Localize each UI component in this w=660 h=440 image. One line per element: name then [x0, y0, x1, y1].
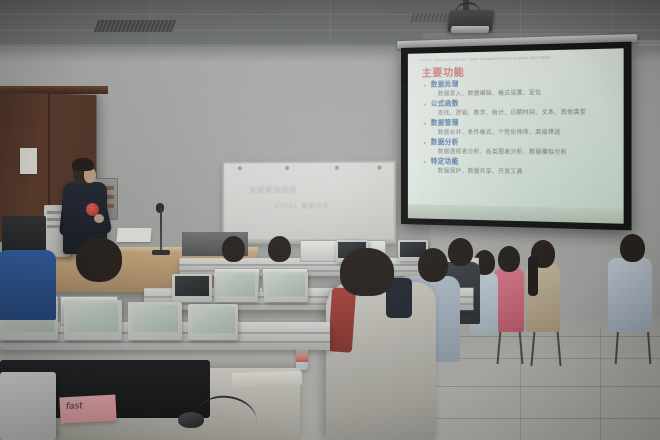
slide-section: 数据处理 数据录入、数据编辑、格式设置、定位	[424, 77, 623, 99]
wall-seated-person-2-body	[494, 268, 524, 332]
whiteboard-text-line-2: EXCEL 数据分析	[275, 201, 329, 210]
slide-section-detail: 查找、逻辑、数学、统计、日期时间、文本、其他类型	[424, 108, 623, 119]
whiteboard: 欢迎参加培训 EXCEL 数据分析	[222, 160, 396, 243]
student-front-left-head	[76, 238, 122, 282]
student-row3-right-head	[448, 238, 473, 266]
slide-section: 数据管理 数据合并、条件格式、个性化排序、高级筛选	[424, 118, 623, 138]
bottle-label	[296, 348, 308, 362]
projector-lens-icon	[451, 26, 490, 33]
slide-surface: OFFICE Application Series | Data Managem…	[408, 48, 624, 208]
projection-screen: OFFICE Application Series | Data Managem…	[401, 42, 632, 231]
slide-section-detail: 数据合并、条件格式、个性化排序、高级筛选	[424, 128, 623, 138]
presenter-shirt-logo	[86, 203, 99, 216]
slide-page-number: 7	[615, 201, 617, 205]
wall-seated-person-3-hair	[528, 256, 538, 296]
wall-seated-person-2-head	[498, 246, 520, 272]
microphone-base	[152, 250, 170, 255]
student-center-back-head	[418, 248, 448, 282]
slide-section: 公式函数 查找、逻辑、数学、统计、日期时间、文本、其他类型	[424, 97, 623, 118]
monitor-front-4	[188, 304, 238, 340]
student-center-blazer-head	[340, 248, 394, 296]
air-vent-icon	[94, 20, 177, 32]
microphone-stand	[160, 208, 162, 254]
monitor-front-2	[64, 300, 122, 340]
pink-label-sticker: fast	[59, 395, 116, 424]
monitor-mid-2	[264, 272, 308, 302]
student-front-left-body	[0, 250, 56, 320]
sticker-text: fast	[66, 401, 83, 412]
red-lanyard	[328, 287, 356, 353]
presenter-hand	[94, 214, 104, 223]
monitor-mid-3	[172, 274, 212, 302]
slide-title: 主要功能	[422, 64, 465, 80]
foreground-computer-tower	[0, 372, 56, 440]
foreground-paper	[232, 371, 302, 387]
monitor-mid-1	[214, 272, 258, 302]
slide-section-heading: 数据管理	[424, 118, 623, 129]
slide-section: 数据分析 数据透视表分析、各类图表分析、数据模拟分析	[424, 138, 623, 158]
presenter-hair	[72, 158, 94, 171]
classroom-photo: OFFICE Application Series | Data Managem…	[0, 0, 660, 440]
podium-paper-sheet	[116, 228, 151, 242]
slide-header: OFFICE Application Series | Data Managem…	[420, 55, 551, 62]
slide-bullet-list: 数据处理 数据录入、数据编辑、格式设置、定位 公式函数 查找、逻辑、数学、统计、…	[424, 77, 623, 179]
air-vent-secondary-icon	[411, 13, 454, 22]
slide-section: 特定功能 数据保护、数据共享、开发工具	[424, 157, 623, 178]
wall-notice-paper	[20, 148, 37, 174]
monitor-front-3	[128, 302, 182, 340]
wall-seated-person-4-head	[620, 234, 645, 262]
student-row3-mid-head	[268, 236, 291, 262]
slide-section-detail: 数据保护、数据共享、开发工具	[424, 167, 623, 179]
whiteboard-text-line-1: 欢迎参加培训	[250, 185, 297, 195]
student-row3-left-head	[222, 236, 245, 262]
computer-mouse	[178, 412, 204, 428]
wall-seated-person-4-body	[608, 258, 652, 332]
